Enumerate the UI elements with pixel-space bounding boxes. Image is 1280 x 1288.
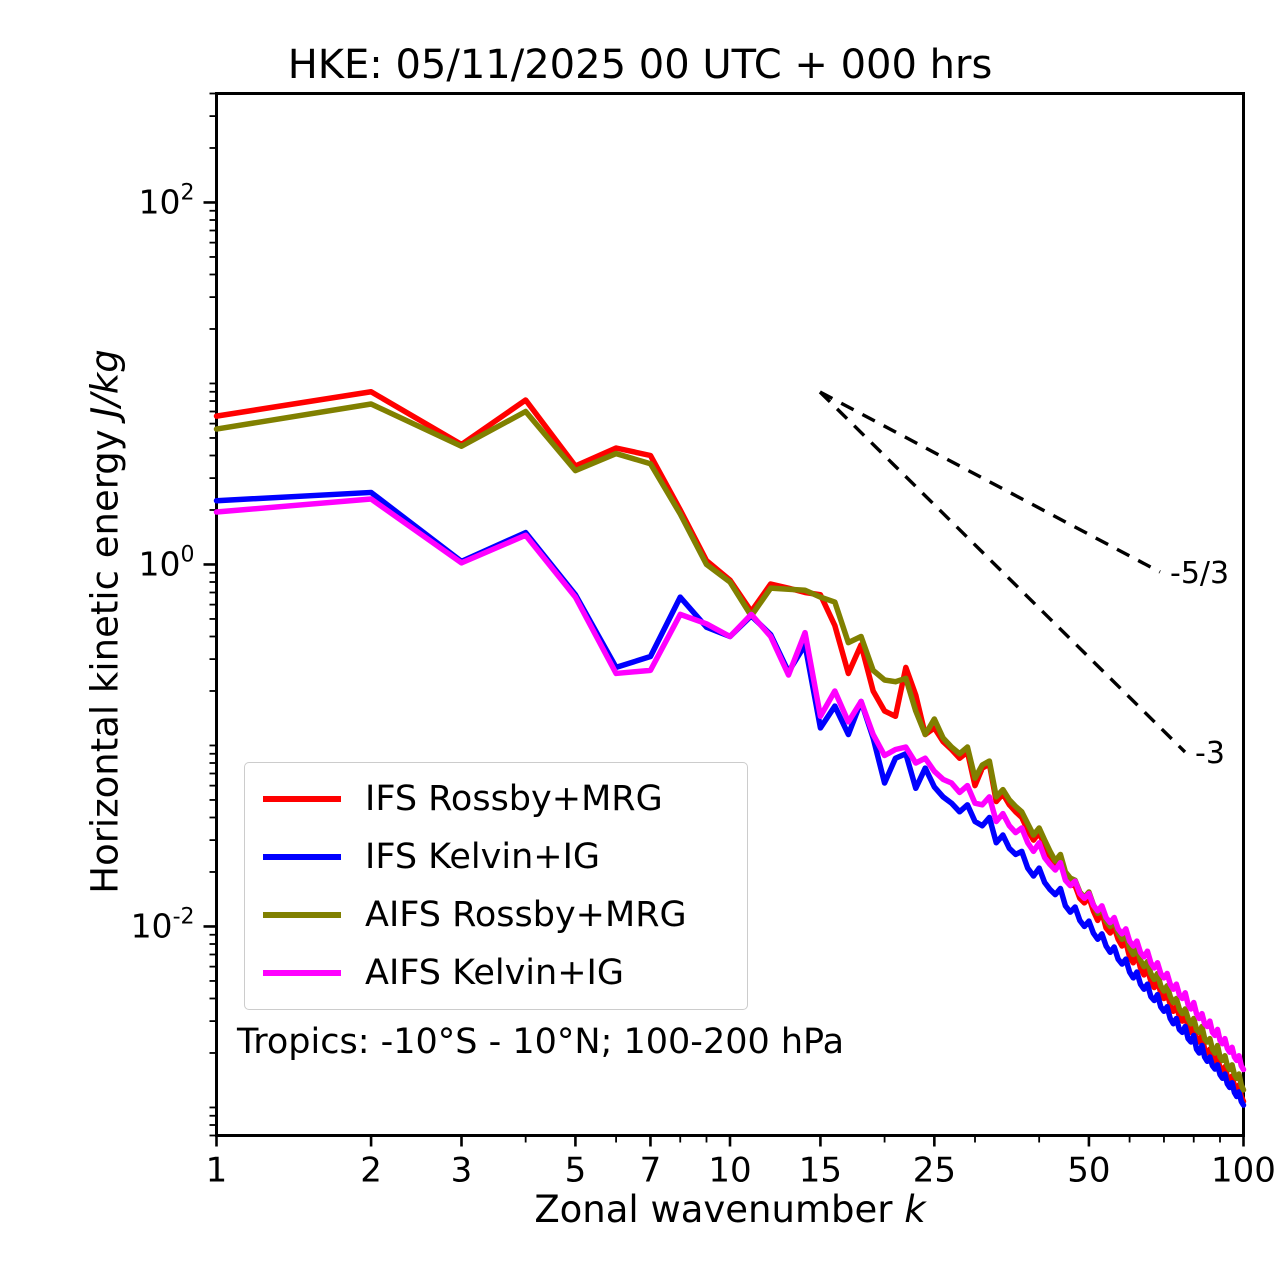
x-tick-label: 3 bbox=[451, 1151, 473, 1191]
legend-item-ifs-rossby-mrg[interactable]: IFS Rossby+MRG bbox=[263, 771, 733, 827]
reference-slope-labels: -5/3-3 bbox=[1170, 556, 1229, 771]
legend-label: AIFS Rossby+MRG bbox=[365, 898, 687, 933]
y-tick-labels: 10210010-2 bbox=[131, 180, 195, 945]
x-tick-label: 2 bbox=[360, 1151, 382, 1191]
reference-line-five-thirds bbox=[820, 392, 1160, 572]
reference-label-three: -3 bbox=[1195, 736, 1225, 771]
x-tick-label: 50 bbox=[1067, 1151, 1110, 1191]
x-tick-label: 1 bbox=[206, 1151, 228, 1191]
y-tick-label: 100 bbox=[139, 542, 195, 583]
legend-label: AIFS Kelvin+IG bbox=[365, 956, 624, 991]
x-tick-label: 7 bbox=[640, 1151, 662, 1191]
legend-color-swatch bbox=[263, 970, 341, 976]
x-tick-labels: 1235710152550100 bbox=[206, 1151, 1276, 1191]
legend-color-swatch bbox=[263, 796, 341, 802]
legend-label: IFS Kelvin+IG bbox=[365, 840, 600, 875]
legend-color-swatch bbox=[263, 912, 341, 918]
legend-label: IFS Rossby+MRG bbox=[365, 782, 663, 817]
x-tick-label: 15 bbox=[799, 1151, 842, 1191]
legend-item-aifs-kelvin-ig[interactable]: AIFS Kelvin+IG bbox=[263, 945, 733, 1001]
legend-item-ifs-kelvin-ig[interactable]: IFS Kelvin+IG bbox=[263, 829, 733, 885]
x-tick-label: 100 bbox=[1211, 1151, 1276, 1191]
legend: IFS Rossby+MRGIFS Kelvin+IGAIFS Rossby+M… bbox=[244, 762, 748, 1010]
legend-item-aifs-rossby-mrg[interactable]: AIFS Rossby+MRG bbox=[263, 887, 733, 943]
plot-canvas: 10210010-2 1235710152550100 -5/3-3 bbox=[0, 0, 1280, 1288]
x-tick-label: 10 bbox=[708, 1151, 751, 1191]
legend-color-swatch bbox=[263, 854, 341, 860]
x-tick-label: 25 bbox=[913, 1151, 956, 1191]
region-annotation: Tropics: -10°S - 10°N; 100-200 hPa bbox=[237, 1022, 844, 1062]
y-tick-label: 102 bbox=[139, 180, 195, 221]
reference-label-five-thirds: -5/3 bbox=[1170, 556, 1229, 591]
chart-figure: HKE: 05/11/2025 00 UTC + 000 hrs Horizon… bbox=[0, 0, 1280, 1288]
x-tick-label: 5 bbox=[565, 1151, 587, 1191]
y-tick-label: 10-2 bbox=[131, 904, 195, 945]
